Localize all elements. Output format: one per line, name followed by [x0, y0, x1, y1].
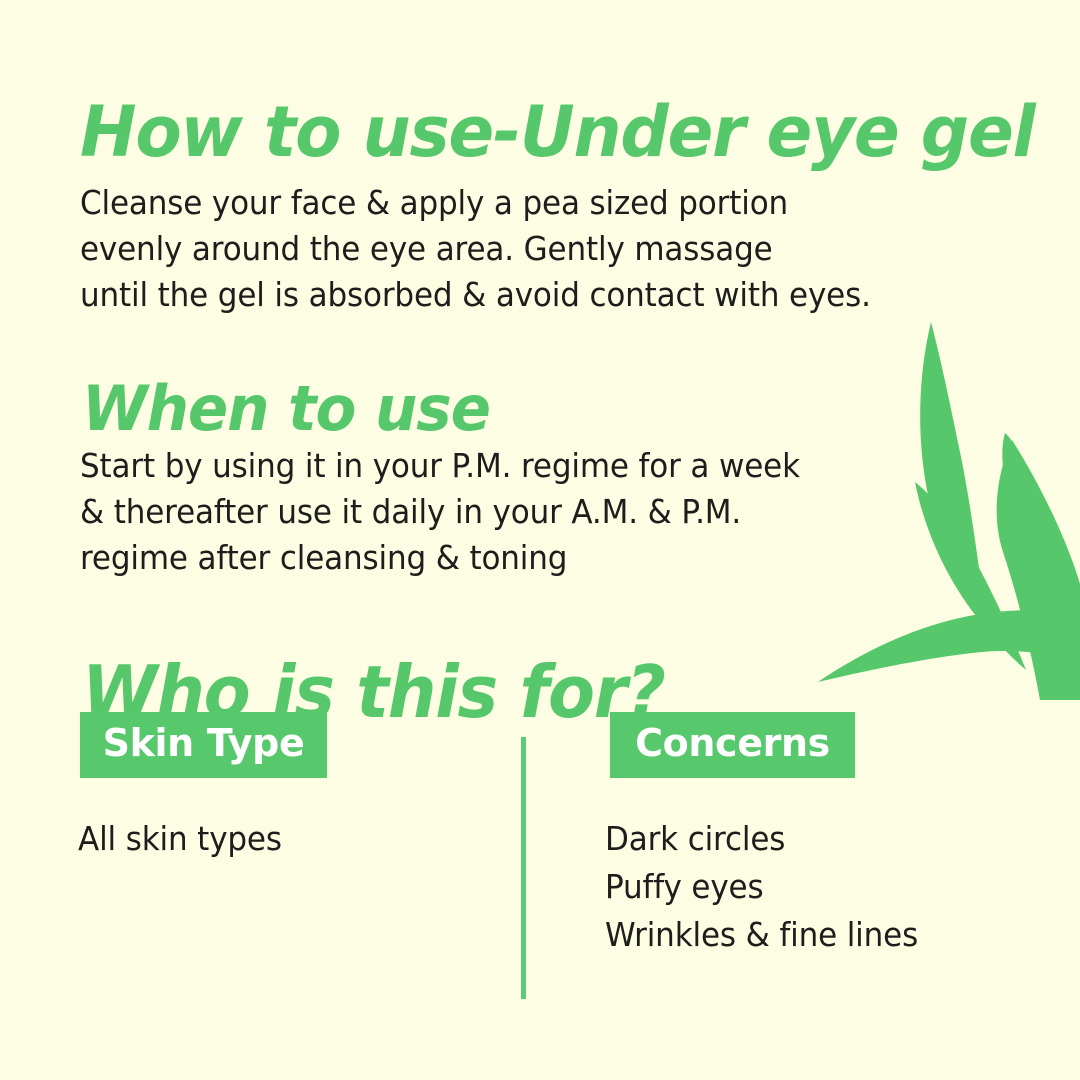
list-item: Wrinkles & fine lines — [605, 911, 918, 959]
leaf-cluster-icon — [800, 300, 1080, 700]
skin-type-list: All skin types — [78, 815, 282, 863]
poster-canvas: How to use-Under eye gel Cleanse your fa… — [0, 0, 1080, 1080]
when-to-use-paragraph: Start by using it in your P.M. regime fo… — [80, 443, 800, 581]
list-item: Dark circles — [605, 815, 918, 863]
badge-skin-type: Skin Type — [80, 712, 327, 778]
list-item: Puffy eyes — [605, 863, 918, 911]
column-divider — [521, 737, 526, 999]
how-to-use-paragraph: Cleanse your face & apply a pea sized po… — [80, 180, 871, 318]
page-title: How to use-Under eye gel — [80, 97, 1034, 167]
badge-concerns: Concerns — [610, 712, 855, 778]
when-to-use-heading: When to use — [82, 378, 490, 440]
concerns-list: Dark circles Puffy eyes Wrinkles & fine … — [605, 815, 918, 959]
list-item: All skin types — [78, 815, 282, 863]
